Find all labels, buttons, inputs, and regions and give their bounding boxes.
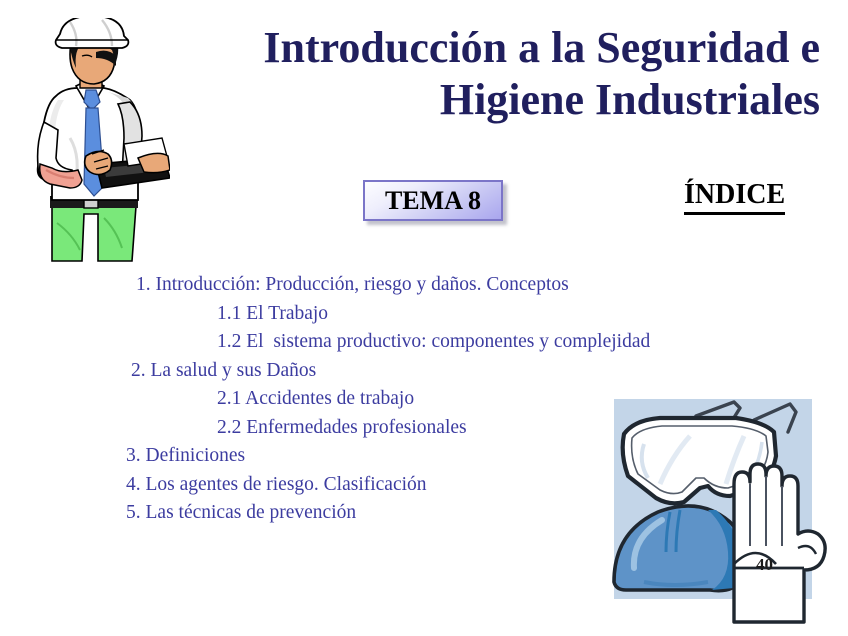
glove-marking-label: 40	[756, 555, 773, 574]
list-item: 1.1 El Trabajo	[0, 300, 640, 329]
slide-title: Introducción a la Seguridad e Higiene In…	[150, 22, 820, 126]
list-item: 5. Las técnicas de prevención	[0, 499, 640, 528]
list-item: 2.1 Accidentes de trabajo	[0, 385, 640, 414]
list-item: 2. La salud y sus Daños	[0, 357, 640, 386]
worker-clipart-image	[12, 18, 170, 266]
safety-equipment-clipart-image: 40	[604, 392, 836, 628]
tema-badge-label: TEMA 8	[385, 188, 481, 214]
list-item: 2.2 Enfermedades profesionales	[0, 414, 640, 443]
title-line-2: Higiene Industriales	[150, 74, 820, 126]
indice-heading-label: ÍNDICE	[684, 179, 785, 210]
title-line-1: Introducción a la Seguridad e	[150, 22, 820, 74]
tema-badge: TEMA 8	[363, 180, 503, 221]
worker-illustration	[12, 18, 170, 266]
list-item: 4. Los agentes de riesgo. Clasificación	[0, 471, 640, 500]
index-list: 1. Introducción: Producción, riesgo y da…	[0, 271, 640, 528]
indice-heading: ÍNDICE	[684, 179, 785, 215]
slide-canvas: Introducción a la Seguridad e Higiene In…	[0, 0, 848, 636]
list-item: 1.2 El sistema productivo: componentes y…	[0, 328, 640, 357]
list-item: 1. Introducción: Producción, riesgo y da…	[0, 271, 640, 300]
ppe-illustration: 40	[604, 392, 836, 628]
list-item: 3. Definiciones	[0, 442, 640, 471]
